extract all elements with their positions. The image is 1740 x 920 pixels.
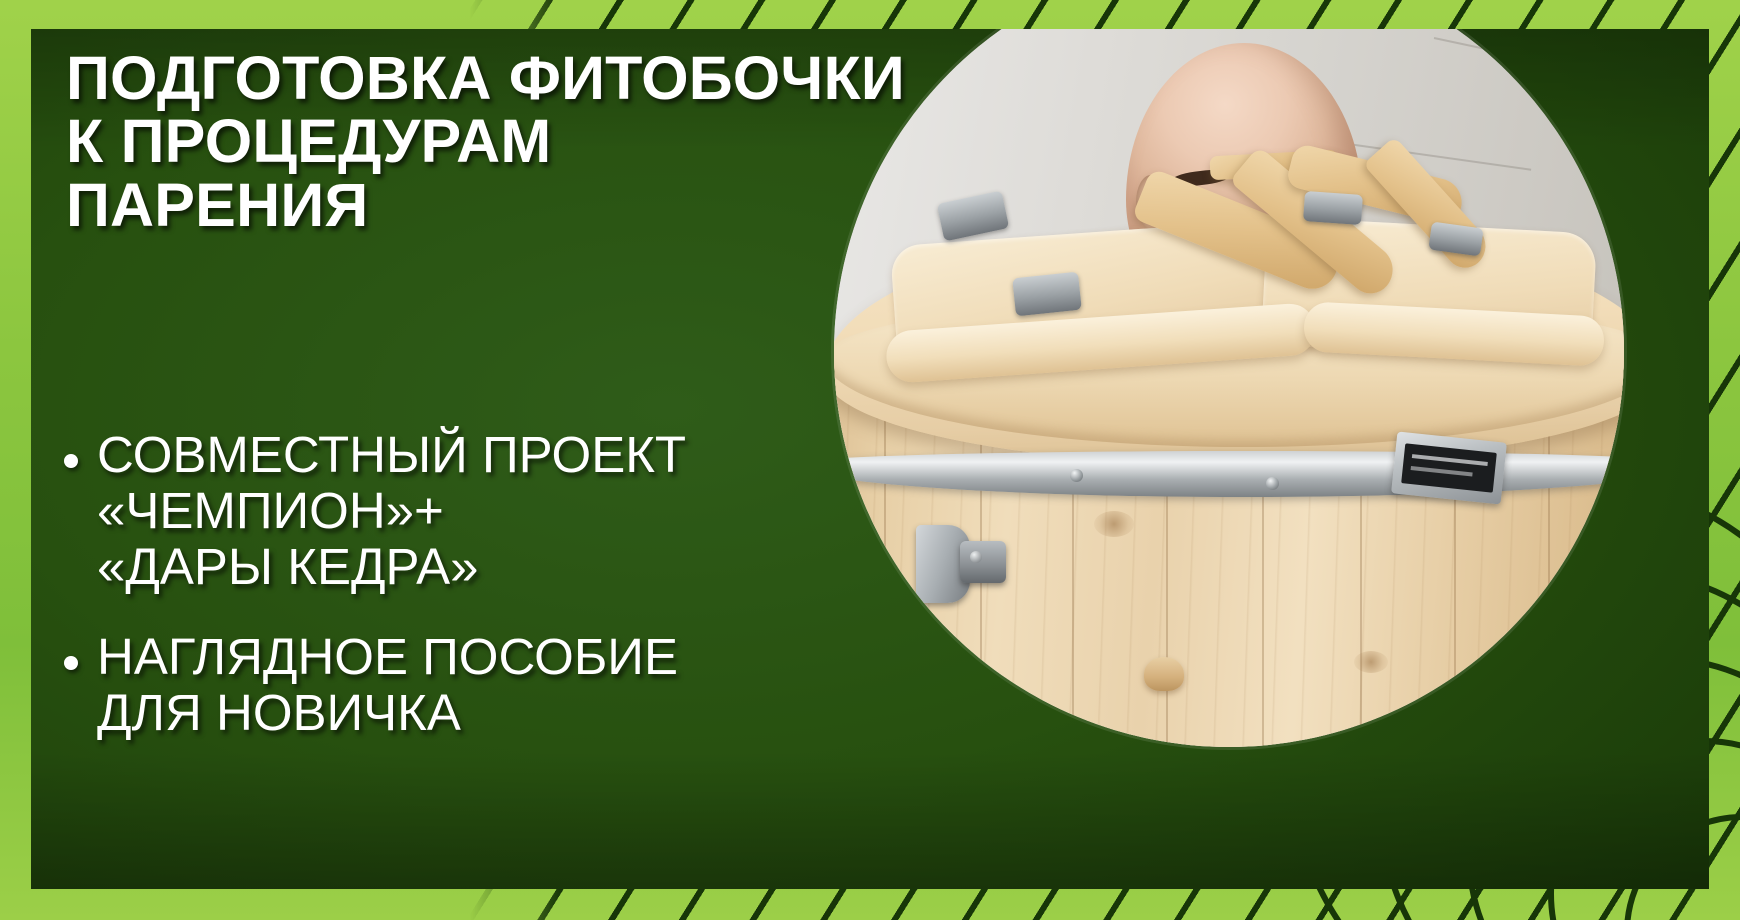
metal-hinge-1 (937, 191, 1009, 242)
metal-hinge-2 (1012, 272, 1082, 317)
brand-nameplate (1391, 431, 1507, 504)
headline-line-1: ПОДГОТОВКА ФИТОБОЧКИ (66, 47, 946, 110)
thumbnail-canvas: ПОДГОТОВКА ФИТОБОЧКИ К ПРОЦЕДУРАМ ПАРЕНИ… (0, 0, 1740, 920)
latch-hook (960, 541, 1006, 583)
bullet-text-2: НАГЛЯДНОЕ ПОСОБИЕ ДЛЯ НОВИЧКА (97, 629, 678, 741)
bullet-dot-icon (64, 454, 78, 468)
wooden-peg-2 (1004, 717, 1038, 745)
list-item: СОВМЕСТНЫЙ ПРОЕКТ «ЧЕМПИОН»+ «ДАРЫ КЕДРА… (64, 427, 964, 595)
nameplate-engraving (1401, 443, 1497, 492)
page-title: ПОДГОТОВКА ФИТОБОЧКИ К ПРОЦЕДУРАМ ПАРЕНИ… (66, 47, 946, 237)
bullet-text-1: СОВМЕСТНЫЙ ПРОЕКТ «ЧЕМПИОН»+ «ДАРЫ КЕДРА… (97, 427, 686, 595)
wooden-peg-1 (1144, 657, 1184, 691)
list-item: НАГЛЯДНОЕ ПОСОБИЕ ДЛЯ НОВИЧКА (64, 629, 964, 741)
headline-block: ПОДГОТОВКА ФИТОБОЧКИ К ПРОЦЕДУРАМ ПАРЕНИ… (66, 47, 946, 237)
bullet-dot-icon (64, 656, 78, 670)
metal-hinge-3 (1303, 191, 1363, 225)
dark-green-panel: ПОДГОТОВКА ФИТОБОЧКИ К ПРОЦЕДУРАМ ПАРЕНИ… (31, 29, 1709, 889)
bullet-list: СОВМЕСТНЫЙ ПРОЕКТ «ЧЕМПИОН»+ «ДАРЫ КЕДРА… (64, 427, 964, 741)
headline-line-2: К ПРОЦЕДУРАМ (66, 110, 946, 173)
headline-line-3: ПАРЕНИЯ (66, 174, 946, 237)
